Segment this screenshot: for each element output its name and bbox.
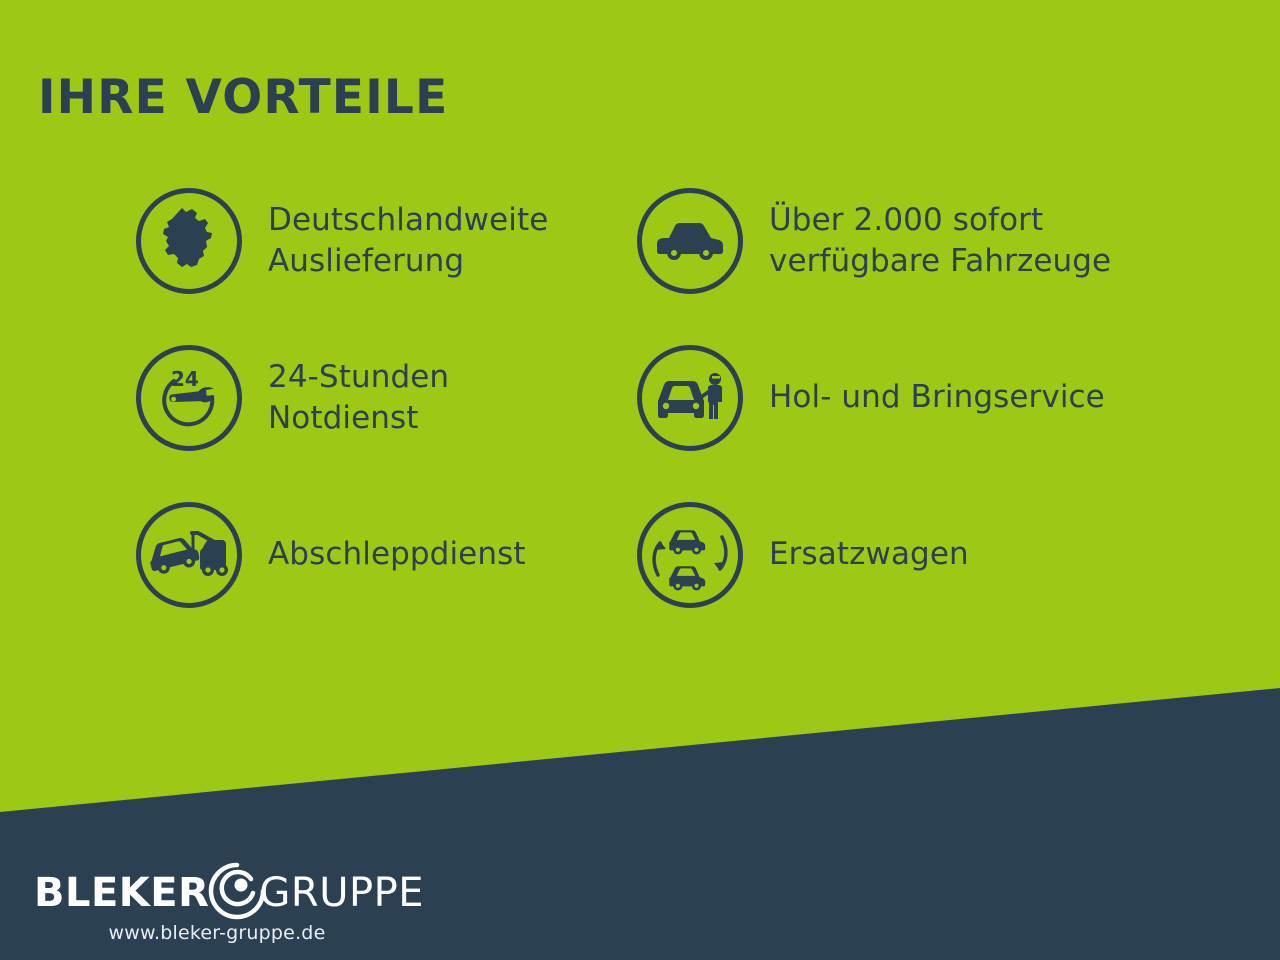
benefit-label: Deutschlandweite Auslieferung [268, 200, 548, 282]
tow-truck-icon [136, 502, 242, 608]
benefits-grid: Deutschlandweite Auslieferung Über 2.000… [0, 188, 1280, 659]
benefit-label: Ersatzwagen [769, 534, 969, 575]
benefits-row: Deutschlandweite Auslieferung Über 2.000… [0, 188, 1280, 345]
benefit-item-24-stunden-notdienst[interactable]: 24 24-Stunden Notdienst [136, 345, 449, 451]
logo-wordmark-row: BLEKER GRUPPE [34, 868, 374, 918]
benefits-row: 24 24-Stunden Notdienst [0, 345, 1280, 502]
germany-map-icon [136, 188, 242, 294]
logo-primary-text: BLEKER [34, 873, 209, 913]
benefit-label: Abschleppdienst [268, 534, 526, 575]
benefit-label: Hol- und Bringservice [769, 377, 1105, 418]
slide-canvas: IHRE VORTEILE Deutschlandweite Ausliefer… [0, 0, 1280, 960]
brand-logo[interactable]: BLEKER GRUPPE www.bleker-gruppe.de [34, 868, 374, 944]
svg-text:24: 24 [171, 367, 199, 391]
benefit-label: 24-Stunden Notdienst [268, 357, 449, 439]
website-url[interactable]: www.bleker-gruppe.de [34, 922, 374, 944]
benefit-item-hol-und-bringservice[interactable]: Hol- und Bringservice [637, 345, 1105, 451]
benefit-item-verfuegbare-fahrzeuge[interactable]: Über 2.000 sofort verfügbare Fahrzeuge [637, 188, 1111, 294]
benefit-item-abschleppdienst[interactable]: Abschleppdienst [136, 502, 526, 608]
logo-secondary-text: GRUPPE [259, 873, 424, 913]
benefits-row: Abschleppdienst [0, 502, 1280, 659]
benefit-item-deutschlandweite-auslieferung[interactable]: Deutschlandweite Auslieferung [136, 188, 548, 294]
page-title: IHRE VORTEILE [38, 74, 448, 121]
two-cars-exchange-icon [637, 502, 743, 608]
benefit-item-ersatzwagen[interactable]: Ersatzwagen [637, 502, 969, 608]
car-side-icon [637, 188, 743, 294]
benefit-label: Über 2.000 sofort verfügbare Fahrzeuge [769, 200, 1111, 282]
car-with-person-icon [637, 345, 743, 451]
24-hour-wrench-icon: 24 [136, 345, 242, 451]
